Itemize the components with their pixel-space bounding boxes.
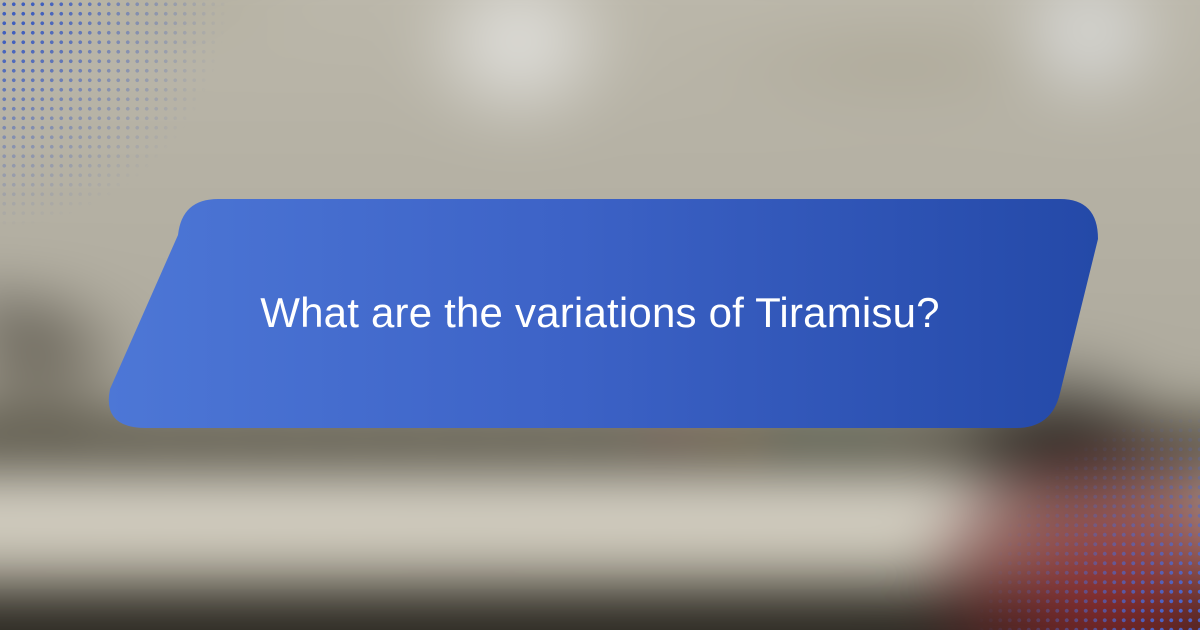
piano-knob xyxy=(19,299,61,335)
question-text: What are the variations of Tiramisu? xyxy=(100,197,1100,430)
question-card: What are the variations of Tiramisu? xyxy=(100,197,1100,430)
social-card-canvas: What are the variations of Tiramisu? xyxy=(0,0,1200,630)
